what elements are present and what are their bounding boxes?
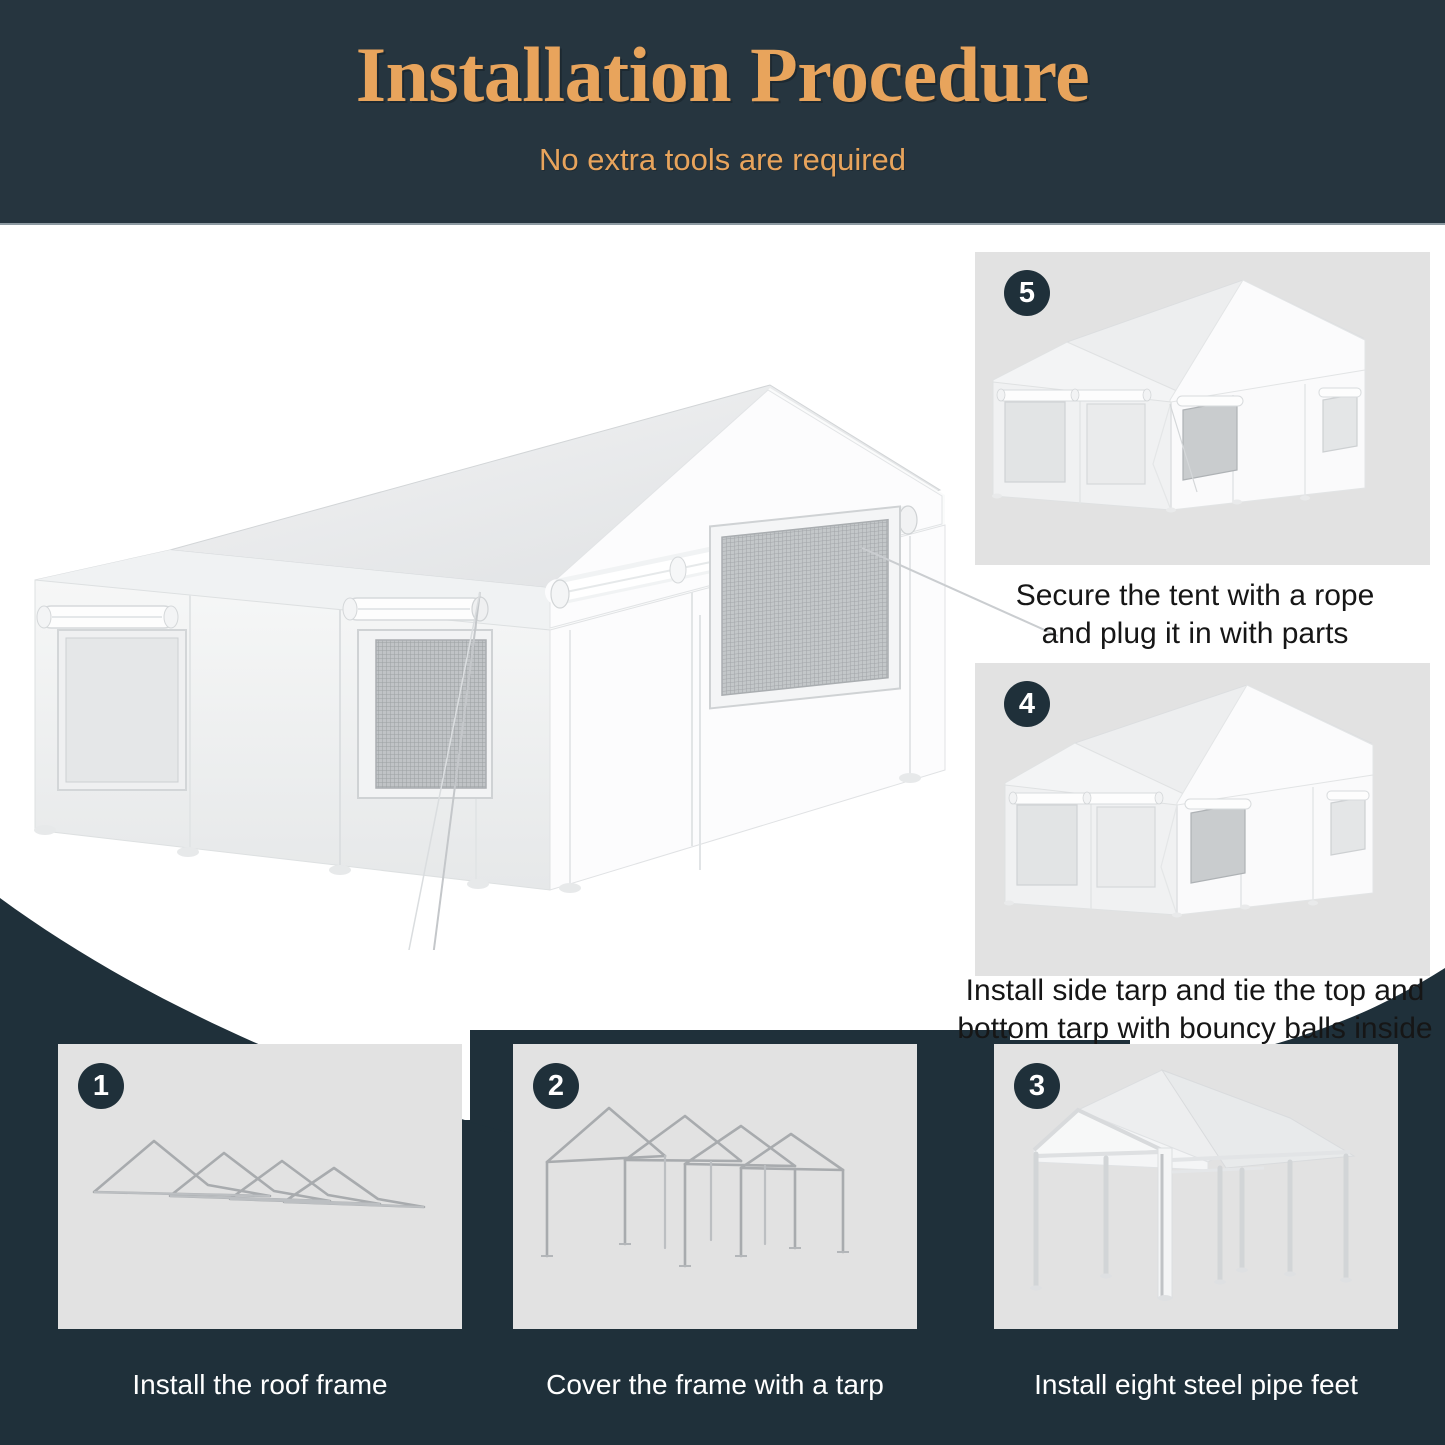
step-5-caption-line-2: and plug it in with parts	[955, 615, 1435, 653]
hero-tent-illustration	[10, 330, 970, 950]
page-subtitle: No extra tools are required	[0, 142, 1445, 178]
installation-procedure-infographic: Installation Procedure No extra tools ar…	[0, 0, 1445, 1445]
step-badge-1: 1	[78, 1063, 124, 1109]
step-4-caption-line-1: Install side tarp and tie the top and	[955, 972, 1435, 1010]
step-5-caption-line-1: Secure the tent with a rope	[955, 577, 1435, 615]
step-badge-2: 2	[533, 1063, 579, 1109]
header-divider	[0, 223, 1445, 225]
step-3-caption: Install eight steel pipe feet	[994, 1368, 1398, 1402]
page-title: Installation Procedure	[0, 36, 1445, 114]
step-4-caption: Install side tarp and tie the top and bo…	[955, 972, 1435, 1048]
step-badge-3: 3	[1014, 1063, 1060, 1109]
step-badge-4: 4	[1004, 681, 1050, 727]
left-wall-window	[37, 606, 186, 790]
step-4-caption-line-2: bottom tarp with bouncy balls inside	[955, 1010, 1435, 1048]
right-wall-mesh-window	[710, 506, 900, 708]
header-banner: Installation Procedure No extra tools ar…	[0, 0, 1445, 225]
step-badge-5: 5	[1004, 270, 1050, 316]
step-5-caption: Secure the tent with a rope and plug it …	[955, 577, 1435, 653]
step-1-caption: Install the roof frame	[58, 1368, 462, 1402]
step-2-caption: Cover the frame with a tarp	[513, 1368, 917, 1402]
